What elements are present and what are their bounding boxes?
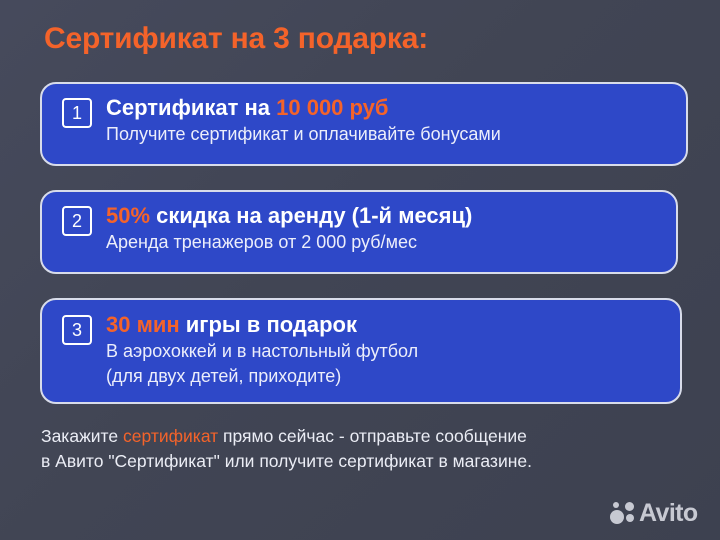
footer-note-line-1-highlight: сертификат (123, 426, 218, 446)
offer-card-1-subtitle-line-1: Получите сертификат и оплачивайте бонуса… (106, 123, 501, 146)
offer-card-2-heading: 50% скидка на аренду (1-й месяц) (106, 203, 472, 229)
offer-card-2: 2 50% скидка на аренду (1-й месяц) Аренд… (40, 190, 678, 274)
offer-card-1-text: Сертификат на 10 000 руб Получите сертиф… (106, 95, 501, 146)
offer-card-3-heading: 30 мин игры в подарок (106, 312, 418, 338)
offer-card-3-text: 30 мин игры в подарок В аэрохоккей и в н… (106, 312, 418, 388)
avito-dots-icon (610, 500, 636, 526)
offer-card-1-heading-plain: Сертификат на (106, 95, 276, 120)
offer-card-3: 3 30 мин игры в подарок В аэрохоккей и в… (40, 298, 682, 404)
offer-card-2-heading-highlight: 50% (106, 203, 150, 228)
footer-note-line-2: в Авито "Сертификат" или получите сертиф… (41, 449, 701, 474)
offer-card-2-heading-plain: скидка на аренду (1-й месяц) (150, 203, 472, 228)
offer-card-3-content: 3 30 мин игры в подарок В аэрохоккей и в… (42, 300, 680, 402)
offer-card-1: 1 Сертификат на 10 000 руб Получите серт… (40, 82, 688, 166)
page-title: Сертификат на 3 подарка: (44, 22, 428, 56)
offer-number-badge-3: 3 (62, 315, 92, 345)
footer-note: Закажите сертификат прямо сейчас - отпра… (41, 424, 701, 474)
offer-card-2-content: 2 50% скидка на аренду (1-й месяц) Аренд… (42, 192, 676, 272)
avito-logo: Avito (610, 500, 698, 526)
offer-card-3-heading-highlight: 30 мин (106, 312, 180, 337)
footer-note-line-1-before: Закажите (41, 426, 123, 446)
offer-card-1-heading: Сертификат на 10 000 руб (106, 95, 501, 121)
offer-card-2-text: 50% скидка на аренду (1-й месяц) Аренда … (106, 203, 472, 254)
offer-card-1-content: 1 Сертификат на 10 000 руб Получите серт… (42, 84, 686, 164)
offer-card-1-heading-highlight: 10 000 руб (276, 95, 388, 120)
promo-poster: Сертификат на 3 подарка: 1 Сертификат на… (0, 0, 720, 540)
footer-note-line-1: Закажите сертификат прямо сейчас - отпра… (41, 424, 701, 449)
offer-number-badge-2: 2 (62, 206, 92, 236)
offer-card-3-subtitle-line-2: (для двух детей, приходите) (106, 365, 418, 388)
offer-number-badge-1: 1 (62, 98, 92, 128)
offer-card-3-heading-plain: игры в подарок (180, 312, 357, 337)
footer-note-line-1-after: прямо сейчас - отправьте сообщение (218, 426, 527, 446)
offer-card-2-subtitle-line-1: Аренда тренажеров от 2 000 руб/мес (106, 231, 472, 254)
avito-wordmark: Avito (639, 500, 698, 526)
offer-card-3-subtitle-line-1: В аэрохоккей и в настольный футбол (106, 340, 418, 363)
